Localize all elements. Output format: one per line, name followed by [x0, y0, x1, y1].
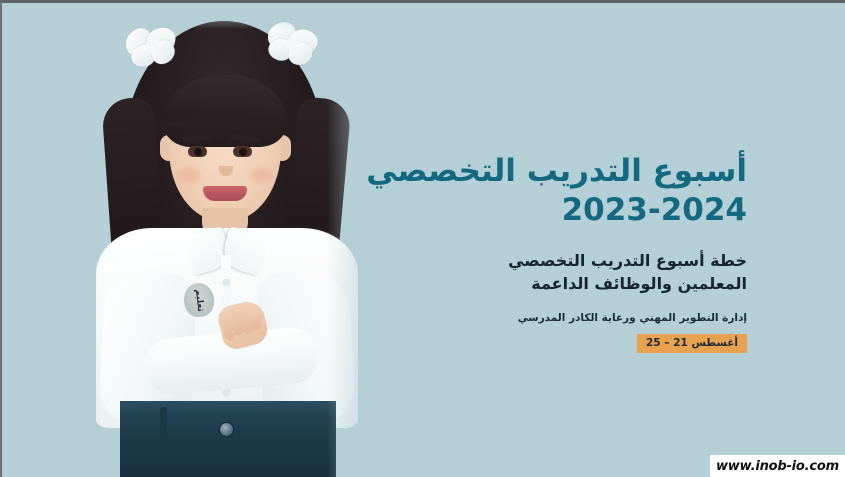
- eye-right: [233, 146, 252, 157]
- poster-title-line1: أسبوع التدريب التخصصي: [327, 153, 747, 190]
- finger: [250, 305, 262, 330]
- skirt-button: [220, 423, 233, 436]
- watermark-text: www.inob-io.com: [716, 459, 839, 474]
- skirt-waistband: [120, 401, 336, 417]
- poster-text-block: أسبوع التدريب التخصصي 2023-2024 خطة أسبو…: [327, 153, 747, 353]
- poster-subtitle: خطة أسبوع التدريب التخصصي المعلمين والوظ…: [327, 250, 747, 295]
- photo-edge-blend-left: [32, 3, 102, 477]
- shirt-button: [223, 389, 230, 396]
- eye-left: [188, 146, 207, 157]
- department-label: إدارة التطوير المهني ورعاية الكادر المدر…: [327, 312, 747, 324]
- date-badge: أغسطس 21 – 25: [637, 334, 747, 353]
- cheek-right: [250, 168, 272, 182]
- poster-subtitle-line2: المعلمين والوظائف الداعمة: [327, 273, 747, 296]
- school-crest-label: تعليم: [193, 288, 205, 312]
- shirt-button: [223, 279, 230, 286]
- poster-canvas: تعليم أسبوع التدريب التخصصي 2023-2024 خط…: [0, 0, 845, 477]
- mouth-smile: [203, 186, 247, 201]
- poster-title-year: 2023-2024: [327, 192, 747, 229]
- belt-loop: [160, 407, 167, 433]
- date-badge-wrapper: أغسطس 21 – 25: [327, 331, 747, 353]
- cheek-left: [178, 168, 200, 182]
- watermark: www.inob-io.com: [710, 455, 845, 477]
- poster-subtitle-line1: خطة أسبوع التدريب التخصصي: [327, 250, 747, 273]
